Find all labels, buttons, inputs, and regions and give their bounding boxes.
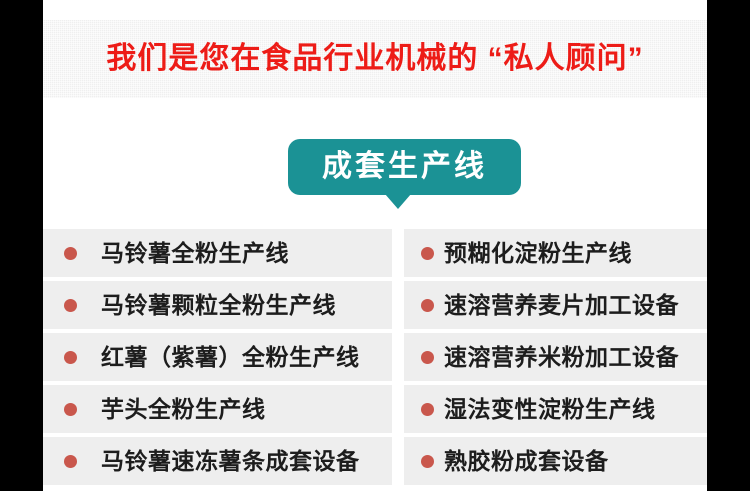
content-canvas: 我们是您在食品行业机械的 “私人顾问” 成套生产线 马铃薯全粉生产线 马铃薯颗粒…: [43, 0, 707, 491]
list-item[interactable]: 红薯（紫薯）全粉生产线: [43, 333, 392, 381]
list-item-label: 马铃薯全粉生产线: [101, 242, 289, 265]
product-list-right-column: 预糊化淀粉生产线 速溶营养麦片加工设备 速溶营养米粉加工设备 湿法变性淀粉生产线…: [404, 229, 707, 491]
bullet-icon: [421, 299, 434, 312]
list-item[interactable]: 熟胶粉成套设备: [404, 437, 707, 485]
product-list: 马铃薯全粉生产线 马铃薯颗粒全粉生产线 红薯（紫薯）全粉生产线 芋头全粉生产线 …: [43, 229, 707, 491]
right-black-bar: [707, 0, 750, 491]
product-list-left-column: 马铃薯全粉生产线 马铃薯颗粒全粉生产线 红薯（紫薯）全粉生产线 芋头全粉生产线 …: [43, 229, 392, 491]
bullet-icon: [421, 403, 434, 416]
list-item[interactable]: 马铃薯颗粒全粉生产线: [43, 281, 392, 329]
list-item-label: 速溶营养麦片加工设备: [444, 294, 679, 317]
list-item-label: 芋头全粉生产线: [101, 398, 266, 421]
list-item[interactable]: 马铃薯速冻薯条成套设备: [43, 437, 392, 485]
section-banner-title: 成套生产线: [322, 152, 487, 182]
bullet-icon: [421, 351, 434, 364]
list-item[interactable]: 速溶营养麦片加工设备: [404, 281, 707, 329]
section-banner: 成套生产线: [288, 139, 521, 195]
left-black-bar: [0, 0, 43, 491]
list-item[interactable]: 湿法变性淀粉生产线: [404, 385, 707, 433]
list-item-label: 马铃薯颗粒全粉生产线: [101, 294, 336, 317]
bullet-icon: [64, 403, 77, 416]
section-banner-tail-triangle: [385, 194, 411, 209]
section-banner-wrapper: 成套生产线: [43, 139, 707, 211]
list-item-label: 熟胶粉成套设备: [444, 450, 609, 473]
bullet-icon: [421, 247, 434, 260]
list-item[interactable]: 预糊化淀粉生产线: [404, 229, 707, 277]
list-item-label: 速溶营养米粉加工设备: [444, 346, 679, 369]
headline-band: 我们是您在食品行业机械的 “私人顾问”: [43, 20, 707, 98]
list-item[interactable]: 马铃薯全粉生产线: [43, 229, 392, 277]
list-item-label: 湿法变性淀粉生产线: [444, 398, 656, 421]
promo-page: 我们是您在食品行业机械的 “私人顾问” 成套生产线 马铃薯全粉生产线 马铃薯颗粒…: [0, 0, 750, 491]
list-item[interactable]: 芋头全粉生产线: [43, 385, 392, 433]
list-item-label: 红薯（紫薯）全粉生产线: [101, 346, 360, 369]
bullet-icon: [64, 351, 77, 364]
list-item-label: 预糊化淀粉生产线: [444, 242, 632, 265]
list-item-label: 马铃薯速冻薯条成套设备: [101, 450, 360, 473]
headline-text: 我们是您在食品行业机械的 “私人顾问”: [106, 44, 643, 74]
bullet-icon: [64, 455, 77, 468]
list-item[interactable]: 速溶营养米粉加工设备: [404, 333, 707, 381]
bullet-icon: [64, 299, 77, 312]
bullet-icon: [64, 247, 77, 260]
bullet-icon: [421, 455, 434, 468]
